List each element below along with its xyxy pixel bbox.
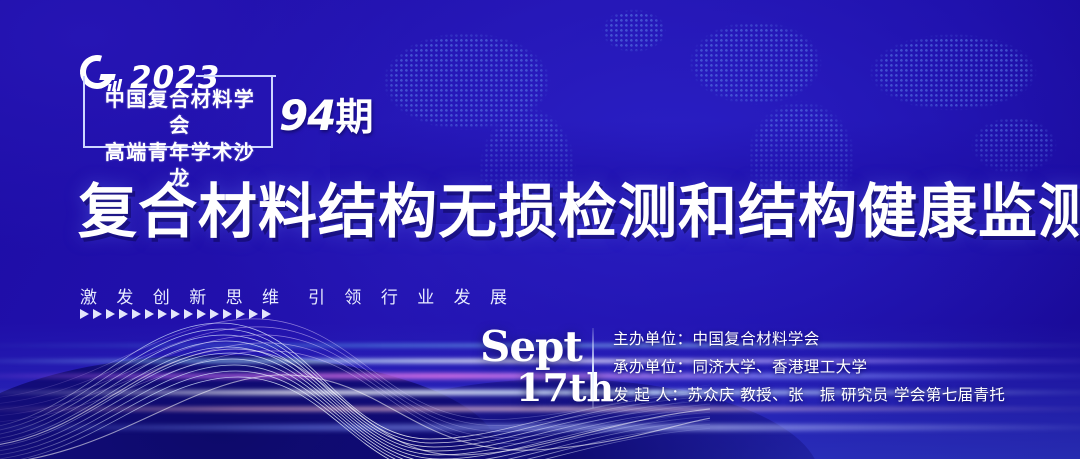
triangle-right-icon <box>145 309 154 319</box>
triangle-right-icon <box>249 309 258 319</box>
conference-banner: 2023 中国复合材料学会 高端青年学术沙龙 94期 复合材料结构无损检测和结构… <box>0 0 1080 459</box>
issue-badge: 94期 <box>279 95 373 137</box>
triangle-right-icon <box>158 309 167 319</box>
event-day: 17th <box>516 369 614 407</box>
info-line-organizer: 主办单位：中国复合材料学会 <box>613 325 1005 353</box>
issue-unit: 期 <box>335 95 373 139</box>
triangle-right-icon <box>106 309 115 319</box>
subtitle-right: 引 领 行 业 发 展 <box>308 288 514 308</box>
subtitle-left: 激 发 创 新 思 维 <box>80 288 286 308</box>
arrow-row <box>80 309 271 319</box>
info-line-host: 承办单位：同济大学、香港理工大学 <box>613 353 1005 381</box>
triangle-right-icon <box>184 309 193 319</box>
triangle-right-icon <box>210 309 219 319</box>
page-title: 复合材料结构无损检测和结构健康监测 <box>78 182 1080 241</box>
triangle-right-icon <box>262 309 271 319</box>
event-info: 主办单位：中国复合材料学会 承办单位：同济大学、香港理工大学 发 起 人：苏众庆… <box>613 325 1005 409</box>
society-line-1: 中国复合材料学会 <box>95 86 265 139</box>
triangle-right-icon <box>132 309 141 319</box>
triangle-right-icon <box>236 309 245 319</box>
triangle-right-icon <box>171 309 180 319</box>
triangle-right-icon <box>119 309 128 319</box>
subtitle: 激 发 创 新 思 维引 领 行 业 发 展 <box>80 283 514 308</box>
info-line-initiators: 发 起 人：苏众庆 教授、张 振 研究员 学会第七届青托 <box>613 381 1005 409</box>
triangle-right-icon <box>93 309 102 319</box>
triangle-right-icon <box>80 309 89 319</box>
society-name: 中国复合材料学会 高端青年学术沙龙 <box>95 86 265 192</box>
triangle-right-icon <box>223 309 232 319</box>
triangle-right-icon <box>197 309 206 319</box>
date-info-divider <box>592 328 594 408</box>
issue-number: 94 <box>279 91 335 140</box>
